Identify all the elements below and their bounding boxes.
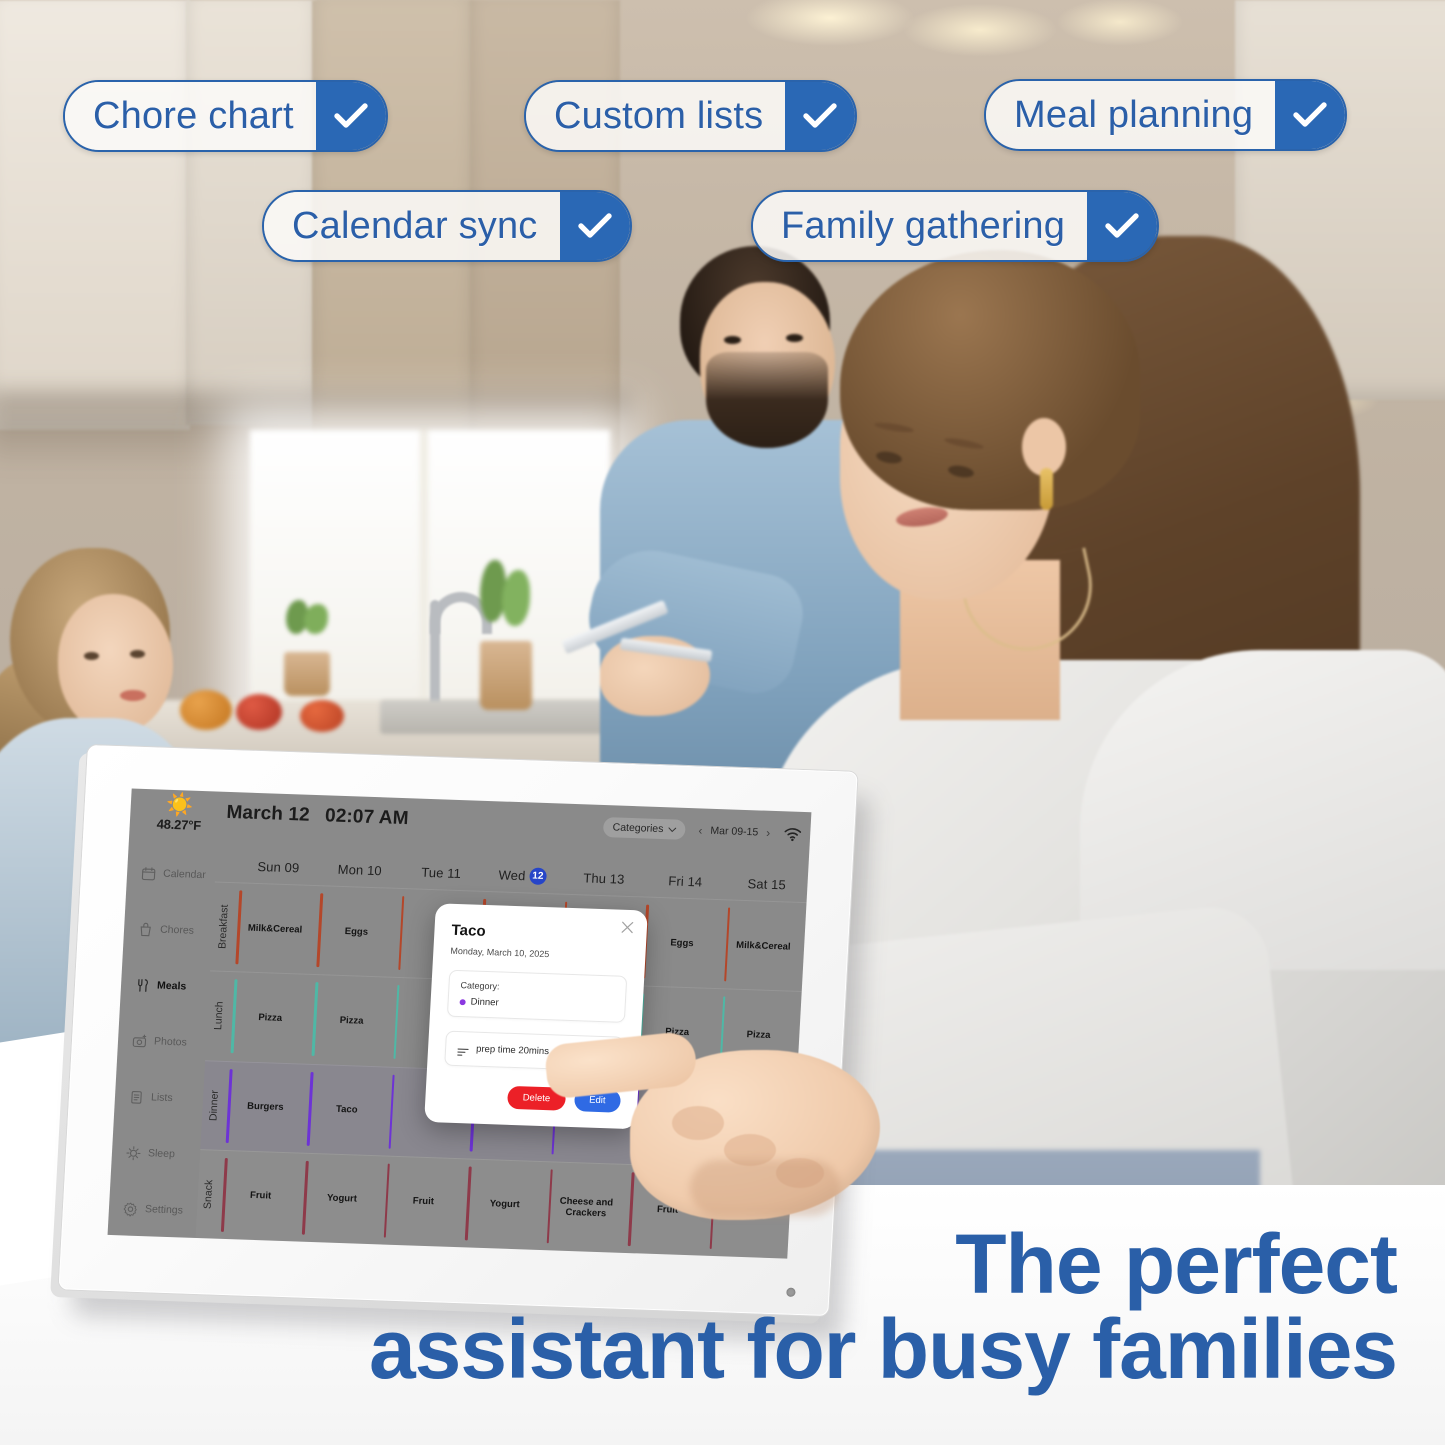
category-label: Category: <box>460 980 614 995</box>
potted-plant <box>284 600 330 696</box>
modal-date: Monday, March 10, 2025 <box>450 946 628 962</box>
time-label: 02:07 AM <box>325 805 410 829</box>
close-icon[interactable] <box>621 921 635 934</box>
badge-label: Calendar sync <box>264 192 560 260</box>
meal-label: Burgers <box>247 1101 284 1113</box>
upper-cabinet <box>0 0 190 430</box>
day-header-today[interactable]: Wed 12 <box>481 857 564 894</box>
sidebar-item-label: Sleep <box>148 1147 175 1160</box>
fruit <box>236 694 282 730</box>
check-icon <box>785 82 855 150</box>
meals-icon <box>135 977 151 993</box>
temperature-label: 48.27°F <box>139 816 218 834</box>
week-navigator[interactable]: ‹ Mar 09-15 › <box>698 823 771 839</box>
day-header[interactable]: Thu 13 <box>562 860 645 897</box>
week-range-label: Mar 09-15 <box>710 825 758 839</box>
feature-badge-calendar-sync[interactable]: Calendar sync <box>262 190 632 262</box>
categories-label: Categories <box>612 821 663 835</box>
meal-label: Yogurt <box>489 1198 519 1210</box>
sidebar-item-label: Photos <box>154 1035 187 1048</box>
meal-cell[interactable]: Milk&Cereal <box>232 883 318 974</box>
meal-label: Pizza <box>258 1012 282 1024</box>
sidebar-item-label: Settings <box>145 1203 184 1216</box>
badge-label: Family gathering <box>753 192 1087 260</box>
meal-label: Milk&Cereal <box>248 922 303 935</box>
check-icon <box>1275 81 1345 149</box>
toolbar-right: Categories ‹ Mar 09-15 › <box>603 817 803 844</box>
day-header[interactable]: Sat 15 <box>725 865 808 902</box>
sun-icon: ☀️ <box>140 793 219 818</box>
day-label: Tue 11 <box>421 864 461 880</box>
meal-cell[interactable]: Pizza <box>309 975 395 1066</box>
day-header[interactable]: Mon 10 <box>318 851 401 888</box>
weather-widget[interactable]: ☀️ 48.27°F <box>139 793 219 834</box>
today-badge: 12 <box>529 867 547 885</box>
fruit <box>300 700 344 732</box>
sidebar-item-settings[interactable]: Settings <box>108 1180 199 1239</box>
day-label: Mon 10 <box>337 861 382 878</box>
meal-cell[interactable]: Fruit <box>217 1151 303 1242</box>
sidebar-item-label: Lists <box>151 1091 173 1104</box>
sidebar-item-photos[interactable]: Photos <box>117 1012 208 1071</box>
tagline-line-1: The perfect <box>369 1222 1397 1308</box>
lists-icon <box>129 1089 145 1105</box>
badge-label: Custom lists <box>526 82 785 150</box>
prep-time-text: prep time 20mins <box>476 1044 549 1058</box>
wifi-icon <box>783 826 803 842</box>
meal-label: Eggs <box>345 926 369 938</box>
earring <box>1040 468 1053 510</box>
check-icon <box>560 192 630 260</box>
meal-label: Pizza <box>339 1015 363 1027</box>
meal-label: Milk&Cereal <box>736 939 791 952</box>
faucet-stem <box>430 600 440 710</box>
sidebar-item-chores[interactable]: Chores <box>123 900 214 959</box>
meal-label: Taco <box>336 1104 358 1116</box>
badge-label: Meal planning <box>986 81 1275 149</box>
day-label: Thu 13 <box>583 870 625 886</box>
potted-plant <box>480 560 532 710</box>
check-icon <box>316 82 386 150</box>
categories-dropdown[interactable]: Categories <box>603 817 686 840</box>
day-header[interactable]: Tue 11 <box>400 854 483 891</box>
check-icon <box>1087 192 1157 260</box>
sidebar-item-label: Chores <box>160 924 194 937</box>
chores-icon <box>138 921 154 937</box>
fruit <box>180 690 232 730</box>
meal-label: Fruit <box>412 1196 434 1208</box>
meal-cell[interactable]: Burgers <box>222 1061 308 1152</box>
tagline-line-2: assistant for busy families <box>369 1307 1397 1393</box>
day-label: Wed <box>498 867 526 883</box>
meal-label: Yogurt <box>327 1193 357 1205</box>
modal-title: Taco <box>451 922 630 945</box>
notes-icon <box>457 1044 470 1054</box>
meal-cell[interactable]: Pizza <box>227 972 313 1063</box>
date-time-display: March 12 02:07 AM <box>226 802 409 830</box>
day-label: Sun 09 <box>257 858 300 874</box>
meal-cell[interactable]: Milk&Cereal <box>720 900 806 991</box>
feature-badge-meal-planning[interactable]: Meal planning <box>984 79 1347 151</box>
chevron-right-icon[interactable]: › <box>766 826 771 840</box>
sidebar-item-sleep[interactable]: Sleep <box>111 1124 202 1183</box>
sidebar-item-label: Calendar <box>163 868 206 881</box>
sidebar-item-label: Meals <box>157 980 187 993</box>
calendar-icon <box>141 865 157 881</box>
photos-icon <box>132 1033 148 1049</box>
feature-badge-custom-lists[interactable]: Custom lists <box>524 80 857 152</box>
day-label: Fri 14 <box>668 873 703 889</box>
date-label: March 12 <box>226 802 310 826</box>
feature-badge-family-gathering[interactable]: Family gathering <box>751 190 1159 262</box>
marketing-tagline: The perfect assistant for busy families <box>369 1222 1397 1393</box>
sidebar-item-calendar[interactable]: Calendar <box>126 844 217 903</box>
sidebar-item-lists[interactable]: Lists <box>114 1068 205 1127</box>
meal-label: Fruit <box>250 1190 272 1202</box>
day-header[interactable]: Sun 09 <box>237 848 320 885</box>
sidebar-item-meals[interactable]: Meals <box>120 956 211 1015</box>
chevron-left-icon[interactable]: ‹ <box>698 823 703 837</box>
gear-icon <box>123 1201 139 1217</box>
chevron-down-icon <box>668 827 676 832</box>
day-header[interactable]: Fri 14 <box>644 863 727 900</box>
meal-cell[interactable]: Eggs <box>313 886 399 977</box>
day-label: Sat 15 <box>747 876 786 892</box>
meal-cell-selected[interactable]: Taco <box>304 1064 390 1155</box>
category-value: Dinner <box>470 996 499 1008</box>
sleep-icon <box>126 1145 142 1161</box>
meal-label: Eggs <box>670 937 694 949</box>
meal-cell[interactable]: Eggs <box>639 897 725 988</box>
feature-badge-chore-chart[interactable]: Chore chart <box>63 80 388 152</box>
category-dot-icon <box>460 999 466 1005</box>
badge-label: Chore chart <box>65 82 316 150</box>
